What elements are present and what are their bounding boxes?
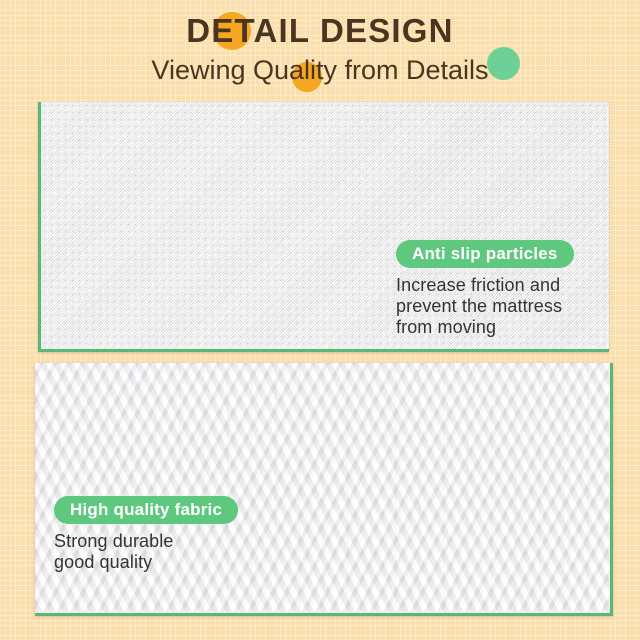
fabric-texture-chevron-overlay <box>35 363 610 613</box>
detail-design-page: DETAIL DESIGN Viewing Quality from Detai… <box>0 0 640 640</box>
callout-high-quality-fabric: High quality fabric Strong durable good … <box>54 496 238 573</box>
page-title: DETAIL DESIGN <box>0 12 640 50</box>
badge-anti-slip-particles: Anti slip particles <box>396 240 574 268</box>
page-subtitle: Viewing Quality from Details <box>0 53 640 87</box>
badge-high-quality-fabric: High quality fabric <box>54 496 238 524</box>
product-image-panel-high-quality-fabric <box>35 363 613 616</box>
callout-anti-slip: Anti slip particles Increase friction an… <box>396 240 574 338</box>
description-anti-slip: Increase friction and prevent the mattre… <box>396 275 574 338</box>
description-high-quality-fabric: Strong durable good quality <box>54 531 238 573</box>
page-header: DETAIL DESIGN Viewing Quality from Detai… <box>0 0 640 96</box>
